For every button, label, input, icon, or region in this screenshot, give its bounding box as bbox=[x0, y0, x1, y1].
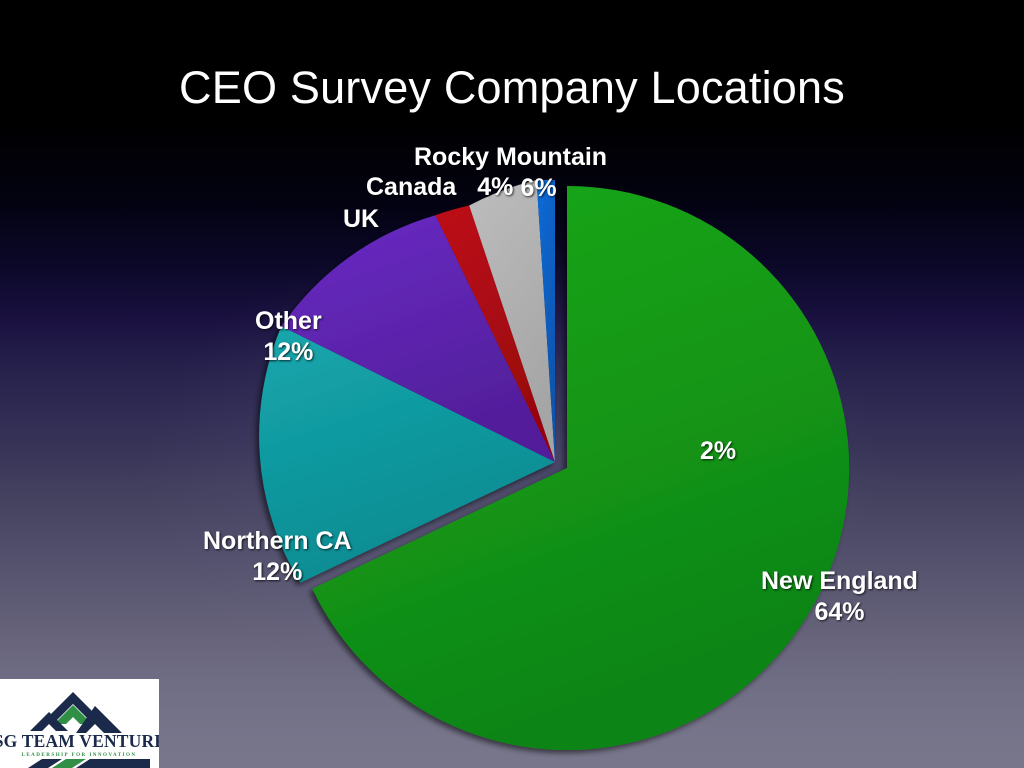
pie-chart-svg bbox=[0, 0, 1024, 768]
pie-label-other-name: Other bbox=[255, 306, 322, 337]
logo-tagline: LEADERSHIP FOR INNOVATION bbox=[21, 752, 136, 758]
pie-label-other-value: 12% bbox=[255, 337, 322, 368]
pie-label-uk-name: UK bbox=[343, 204, 379, 235]
pie-label-northern-ca: Northern CA 12% bbox=[203, 526, 352, 587]
pie-label-northern-ca-name: Northern CA bbox=[203, 526, 352, 557]
bsg-team-ventures-logo: BSG TEAM VENTURES LEADERSHIP FOR INNOVAT… bbox=[0, 679, 159, 768]
pie-label-rocky-mountain-name: Rocky Mountain bbox=[414, 142, 607, 173]
pie-label-uk: UK 2% bbox=[343, 204, 379, 235]
logo-svg: BSG TEAM VENTURES LEADERSHIP FOR INNOVAT… bbox=[0, 679, 159, 768]
logo-wordmark: BSG TEAM VENTURES bbox=[0, 731, 159, 751]
pie-label-other: Other 12% bbox=[255, 306, 322, 367]
pie-label-canada-value: 4% bbox=[463, 172, 513, 203]
pie-label-canada: Canada 4% bbox=[366, 172, 513, 203]
pie-label-canada-name: Canada bbox=[366, 172, 456, 203]
pie-label-uk-value: 2% bbox=[686, 436, 736, 467]
pie-label-new-england: New England 64% bbox=[761, 566, 918, 627]
pie-chart: Rocky Mountain 6% Canada 4% UK 2% Other … bbox=[0, 0, 1024, 768]
pie-label-northern-ca-value: 12% bbox=[203, 557, 352, 588]
pie-label-new-england-value: 64% bbox=[761, 597, 918, 628]
logo-bottom-band bbox=[28, 759, 150, 768]
presentation-slide: CEO Survey Company Locations bbox=[0, 0, 1024, 768]
pie-label-new-england-name: New England bbox=[761, 566, 918, 597]
